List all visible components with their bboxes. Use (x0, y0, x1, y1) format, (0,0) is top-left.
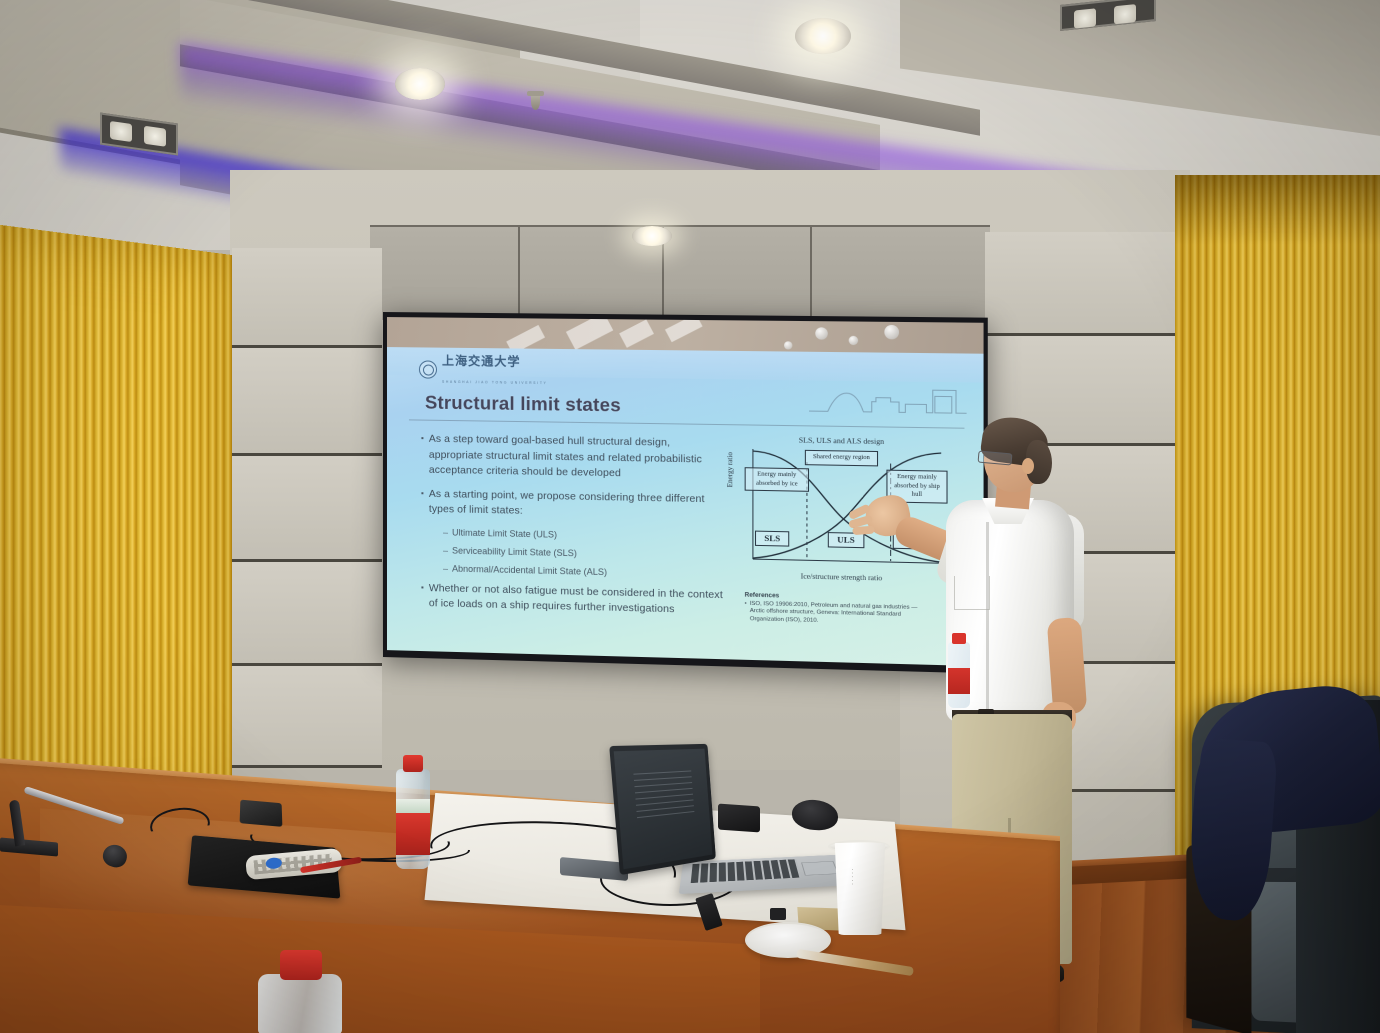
conference-room-scene: 上海交通大学 SHANGHAI JIAO TONG UNIVERSITY Str… (0, 0, 1380, 1033)
usb-drive[interactable] (770, 908, 786, 920)
sub-bullet-item: – Serviceability Limit State (SLS) (443, 544, 726, 563)
slide-bullet-list: ▪ As a step toward goal-based hull struc… (421, 432, 726, 628)
presenter-shirt-placket (986, 522, 989, 712)
reference-text: ISO, ISO 19906:2010, Petroleum and natur… (750, 600, 928, 628)
diagram-annotation-left: Energy mainly absorbed by ice (745, 467, 809, 492)
reference-marker: • (745, 600, 747, 623)
bullet-marker: ▪ (421, 486, 424, 517)
slide-title: Structural limit states (425, 392, 621, 417)
screen-display-area: 上海交通大学 SHANGHAI JIAO TONG UNIVERSITY Str… (387, 317, 984, 666)
laptop-trackpad[interactable] (801, 861, 839, 876)
laptop-keyboard[interactable] (679, 855, 854, 894)
usb-hub[interactable] (718, 804, 760, 833)
bullet-text: Whether or not also fatigue must be cons… (429, 581, 726, 620)
bullet-marker: ▪ (421, 580, 424, 611)
sub-bullet-item: – Ultimate Limit State (ULS) (443, 526, 726, 545)
ceiling-downlight (795, 18, 851, 54)
reference-item: • ISO, ISO 19906:2010, Petroleum and nat… (745, 600, 928, 628)
bottle-cap[interactable] (280, 950, 322, 980)
limit-state-diagram: SLS, ULS and ALS design Energy ratio Ice… (728, 434, 956, 582)
bullet-item: ▪ As a starting point, we propose consid… (421, 486, 726, 523)
diagram-annotation-center: Shared energy region (805, 450, 878, 466)
campus-skyline-icon (809, 382, 967, 415)
cup-print: ····· (848, 868, 857, 886)
sprinkler-head-icon (531, 94, 540, 110)
university-seal-icon (419, 360, 437, 378)
bullet-item: ▪ As a step toward goal-based hull struc… (421, 432, 726, 484)
wood-wall-shadow (1175, 175, 1380, 245)
university-name-en: SHANGHAI JIAO TONG UNIVERSITY (442, 380, 547, 385)
sub-bullet-text: Ultimate Limit State (ULS) (452, 526, 557, 541)
sub-bullet-marker: – (443, 544, 448, 557)
presenter-ear (1022, 458, 1034, 474)
power-adapter[interactable] (240, 800, 283, 827)
university-logo: 上海交通大学 SHANGHAI JIAO TONG UNIVERSITY (419, 351, 547, 389)
bullet-text: As a step toward goal-based hull structu… (429, 432, 726, 484)
university-name-cn: 上海交通大学 (442, 354, 521, 369)
title-divider (409, 419, 965, 428)
presenter-forearm-right (1047, 617, 1088, 715)
projection-screen[interactable]: 上海交通大学 SHANGHAI JIAO TONG UNIVERSITY Str… (383, 312, 988, 674)
upper-cabinet-row (370, 225, 990, 320)
sub-bullet-item: – Abnormal/Accidental Limit State (ALS) (443, 562, 726, 582)
sub-bullet-marker: – (443, 562, 448, 575)
presenter-water-bottle (948, 642, 970, 708)
ceiling-downlight (395, 68, 445, 100)
laptop-screen[interactable] (609, 744, 716, 875)
bottle-cap[interactable] (403, 755, 423, 772)
bullet-item: ▪ Whether or not also fatigue must be co… (421, 580, 726, 619)
paper-cup[interactable] (832, 843, 888, 935)
references-block: References • ISO, ISO 19906:2010, Petrol… (745, 592, 928, 628)
presenter-shirt-pocket (954, 576, 990, 610)
ceiling-downlight (632, 226, 672, 246)
bullet-marker: ▪ (421, 432, 424, 479)
bullet-text: As a starting point, we propose consider… (429, 486, 726, 523)
water-bottle-foreground[interactable] (258, 950, 342, 1033)
diagram-region-sls: SLS (755, 531, 790, 547)
presenter-eyeglasses (978, 451, 1013, 466)
sub-bullet-text: Abnormal/Accidental Limit State (ALS) (452, 562, 607, 579)
sub-bullet-marker: – (443, 526, 448, 539)
sub-bullet-text: Serviceability Limit State (SLS) (452, 544, 577, 560)
acoustic-panel-column-left (232, 248, 382, 768)
water-bottle-desk[interactable] (396, 755, 430, 869)
wood-slat-wall-left (0, 223, 232, 847)
